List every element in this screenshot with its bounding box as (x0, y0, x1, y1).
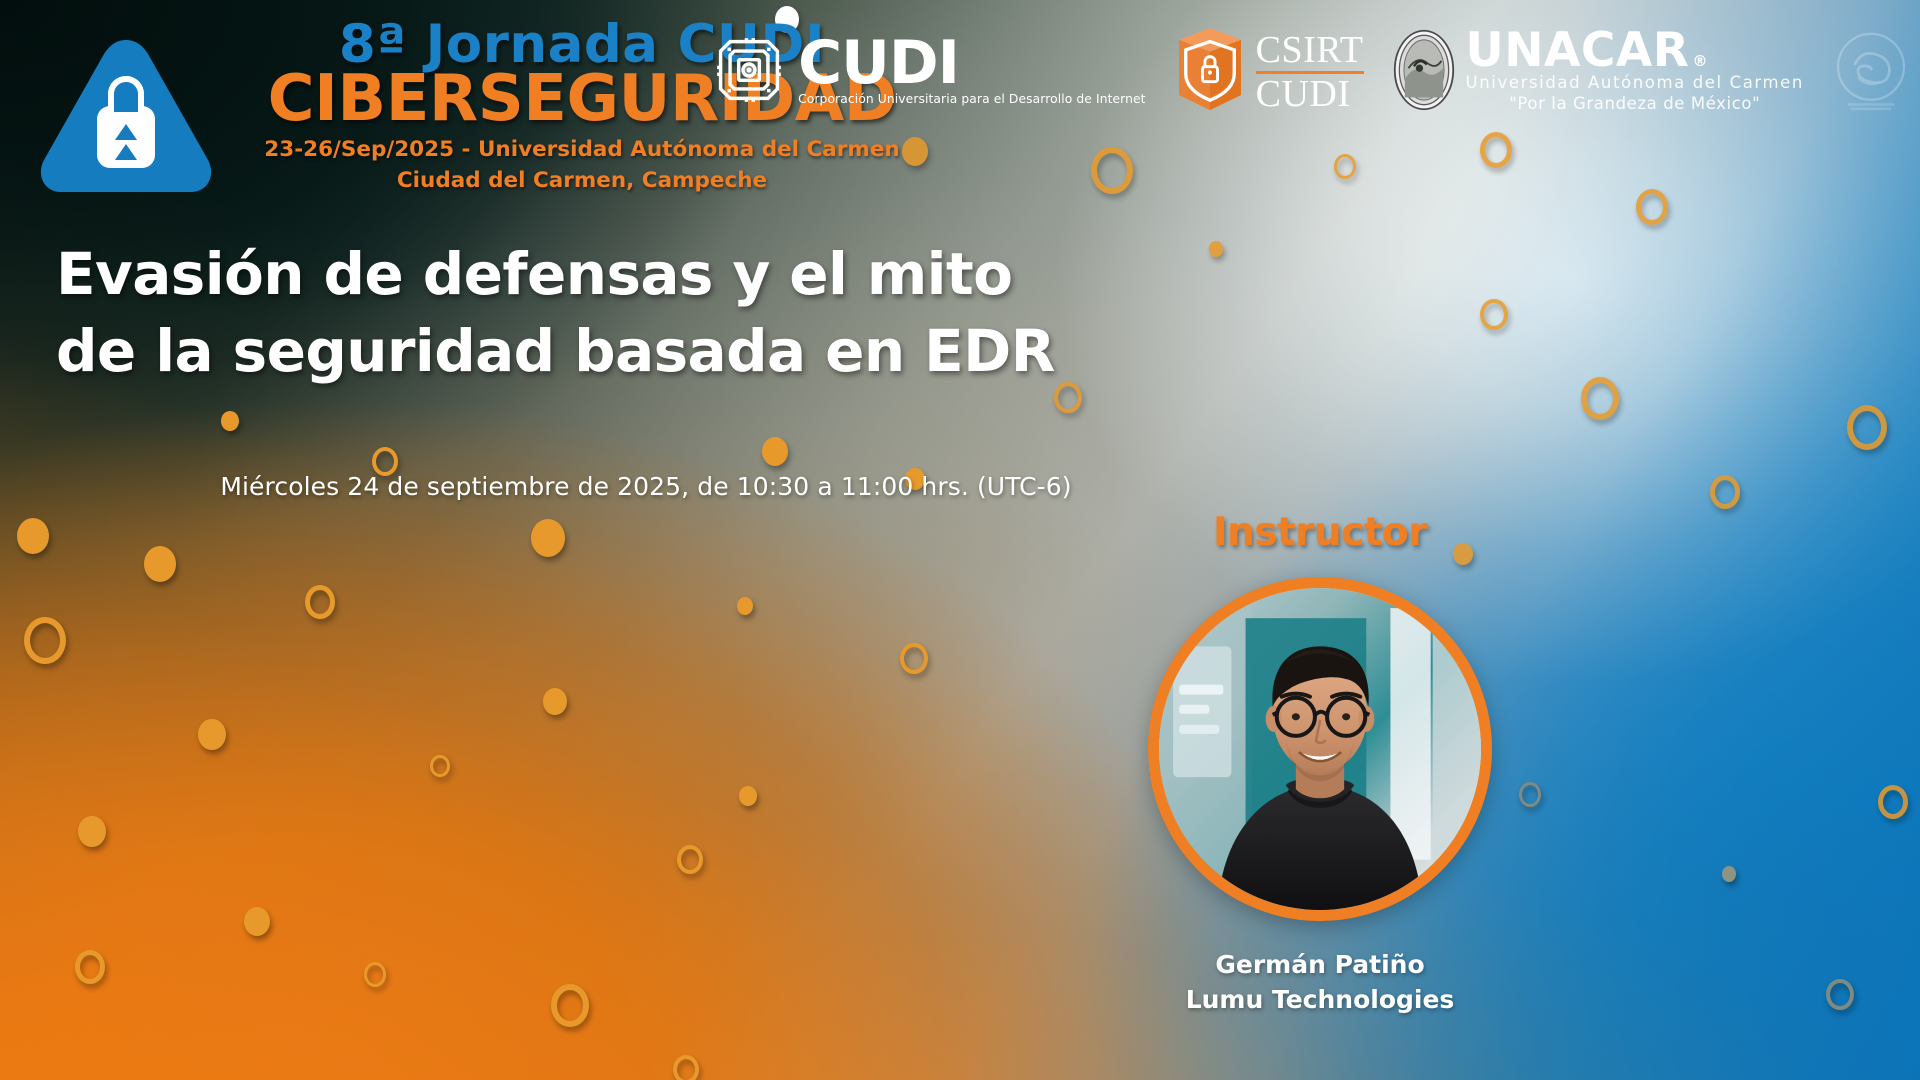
decorative-ring (430, 755, 450, 777)
instructor-heading: Instructor (1030, 510, 1610, 555)
decorative-ring (1710, 475, 1740, 509)
decorative-ring (24, 617, 66, 664)
decorative-dot (737, 597, 753, 615)
instructor-organization: Lumu Technologies (1030, 982, 1610, 1017)
decorative-ring (75, 950, 105, 984)
session-title: Evasión de defensas y el mito de la segu… (56, 236, 1236, 389)
decorative-dot (1722, 866, 1736, 882)
unacar-seal-icon (1392, 28, 1456, 117)
unacar-wordmark-row: UNACAR® (1466, 29, 1804, 73)
csirt-line2: CUDI (1256, 75, 1364, 114)
csirt-cudi-logo: CSIRT CUDI (1174, 26, 1364, 119)
decorative-ring (1878, 785, 1908, 819)
decorative-ring (900, 643, 928, 674)
session-title-line1: Evasión de defensas y el mito (56, 236, 1236, 313)
cudi-tagline: Corporación Universitaria para el Desarr… (798, 92, 1146, 106)
decorative-ring (364, 962, 386, 987)
csirt-shield-cube-icon (1174, 26, 1246, 119)
decorative-ring (1480, 132, 1512, 168)
decorative-dot (198, 719, 226, 750)
partner-logos: CUDI Corporación Universitaria para el D… (712, 16, 1910, 128)
instructor-name: Germán Patiño (1030, 947, 1610, 982)
banner-canvas: 8ª Jornada CUDI CIBERSEGURIDAD 23-26/Sep… (0, 0, 1920, 1080)
decorative-ring (677, 845, 703, 874)
decorative-ring (673, 1055, 699, 1080)
csirt-line1: CSIRT (1256, 31, 1364, 70)
decorative-dot (543, 688, 567, 715)
cudi-logo: CUDI Corporación Universitaria para el D… (712, 33, 1146, 112)
event-venue-line: 23-26/Sep/2025 - Universidad Autónoma de… (232, 134, 932, 165)
decorative-dot (739, 786, 757, 806)
unacar-registered-mark: ® (1692, 54, 1708, 68)
decorative-dot (221, 411, 239, 431)
decorative-ring (1334, 154, 1356, 179)
decorative-dot (78, 816, 106, 847)
instructor-portrait (1159, 588, 1481, 910)
session-datetime: Miércoles 24 de septiembre de 2025, de 1… (56, 472, 1236, 501)
unacar-logo: UNACAR® Universidad Autónoma del Carmen … (1392, 28, 1804, 117)
decorative-dot (762, 437, 788, 466)
instructor-panel: Instructor (1030, 510, 1610, 1017)
decorative-ring (305, 585, 335, 619)
decorative-dot (244, 907, 270, 936)
decorative-ring (1581, 377, 1619, 420)
decorative-dot (17, 518, 49, 554)
instructor-portrait-frame (1148, 577, 1492, 921)
decorative-dot (531, 519, 565, 557)
decorative-ring (551, 984, 589, 1027)
decorative-ring (1847, 405, 1887, 450)
decorative-ring (1826, 979, 1854, 1010)
triangle-lock-badge-icon (36, 32, 216, 202)
unacar-wordmark: UNACAR (1466, 29, 1690, 73)
event-city-line: Ciudad del Carmen, Campeche (232, 165, 932, 196)
government-seal-icon (1832, 28, 1910, 116)
decorative-ring (1636, 189, 1668, 225)
cudi-circuit-icon (712, 33, 786, 112)
decorative-dot (144, 546, 176, 582)
decorative-ring (1480, 299, 1508, 330)
unacar-motto: "Por la Grandeza de México" (1466, 94, 1804, 115)
cudi-wordmark: CUDI (798, 38, 1146, 90)
decorative-ring (1091, 147, 1133, 194)
unacar-subtitle: Universidad Autónoma del Carmen (1466, 73, 1804, 94)
session-title-line2: de la seguridad basada en EDR (56, 313, 1236, 390)
